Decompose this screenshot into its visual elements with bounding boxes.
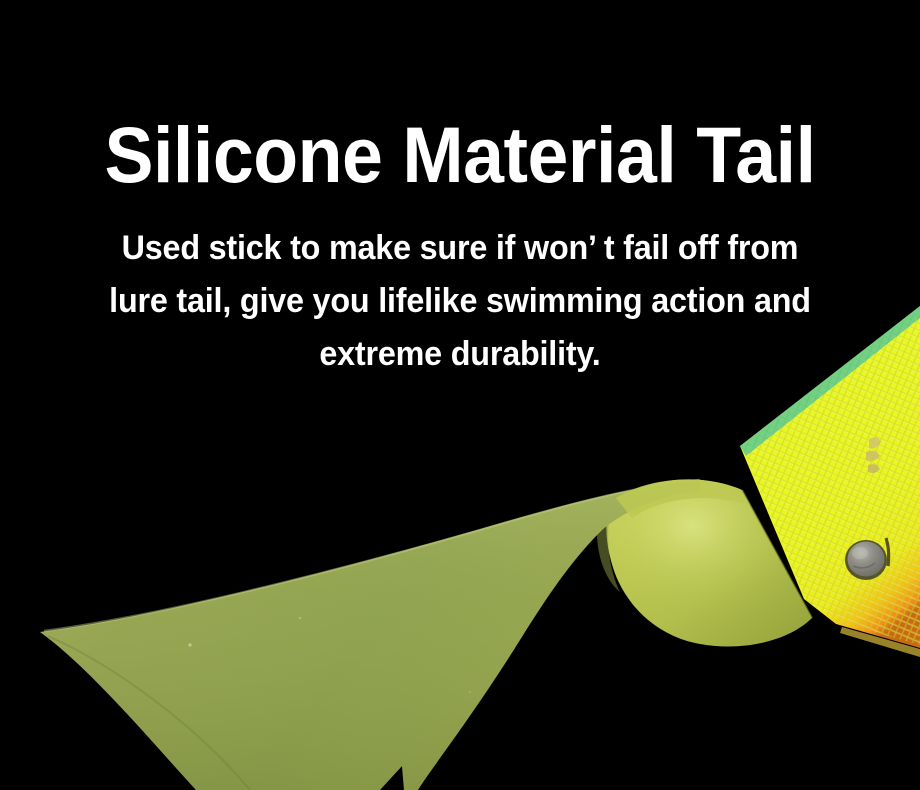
subtitle-line-1: Used stick to make sure if won’ t fail o… — [71, 222, 850, 275]
metal-rivet — [845, 540, 887, 580]
product-image — [0, 300, 920, 790]
page-title: Silicone Material Tail — [32, 113, 888, 197]
promo-banner: Silicone Material Tail Used stick to mak… — [0, 0, 920, 790]
lure-illustration — [0, 300, 920, 790]
